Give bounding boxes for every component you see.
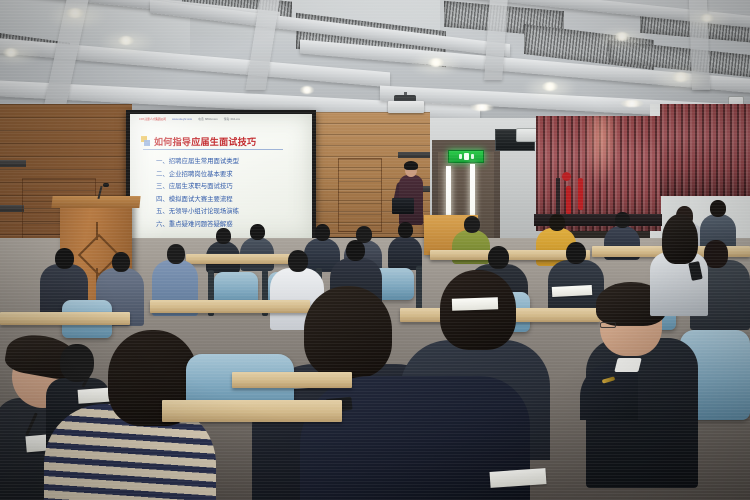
officer-collar <box>614 358 641 372</box>
curtain-highlight <box>584 116 618 186</box>
window-curtain-right <box>660 104 750 196</box>
slide-bullet-marker-icon <box>141 136 150 145</box>
lectern-top <box>51 196 140 208</box>
ceiling-downlight <box>470 104 494 111</box>
slide-header-extra: 传真: 010-xxx <box>224 119 240 122</box>
stand-pole <box>556 178 560 214</box>
wall-accent-strip <box>398 152 430 158</box>
ceiling-downlight <box>620 100 644 107</box>
slide-header-tel: 电话: 8802xxxxx <box>198 119 218 122</box>
microphone-icon <box>103 183 109 187</box>
chair-frame <box>416 266 422 310</box>
wall-speaker <box>516 128 538 142</box>
conference-room-photo: CPA注册人才集团公司 www.site-jhr.com 电话: 8802xxx… <box>0 0 750 500</box>
slide-bullet-item: 六、重点疑难问题答疑解惑 <box>156 221 304 227</box>
red-banner <box>578 178 583 210</box>
wood-door-panel <box>338 158 382 232</box>
red-decoration <box>562 172 571 181</box>
slide-bullet-item: 三、应届生求职与面试技巧 <box>156 183 304 189</box>
wall-accent-strip <box>0 205 24 212</box>
slide-header-url: www.site-jhr.com <box>172 119 192 122</box>
red-banner <box>566 186 571 214</box>
slide-header: CPA注册人才集团公司 www.site-jhr.com 电话: 8802xxx… <box>139 119 306 122</box>
slide-bullet-item: 一、招聘应届生常用面试类型 <box>156 158 304 164</box>
center-attendee-head <box>304 286 392 378</box>
projector <box>388 101 424 113</box>
slide-bullet-list: 一、招聘应届生常用面试类型 二、企业招聘岗位基本要求 三、应届生求职与面试技巧 … <box>156 158 304 233</box>
notebook <box>552 285 592 297</box>
wall-accent-strip <box>0 160 26 167</box>
desk <box>150 300 310 313</box>
notebook <box>452 297 498 311</box>
slide-header-company: CPA注册人才集团公司 <box>139 119 166 122</box>
presenter-hair <box>404 161 418 170</box>
slide-bullet-item: 五、无领导小组讨论现场演练 <box>156 208 304 214</box>
desk <box>162 400 342 422</box>
glasses-icon <box>600 322 616 328</box>
slide-title: 如何指导应届生面试技巧 <box>154 135 256 148</box>
slide-title-rule <box>143 149 283 150</box>
desk <box>0 312 130 325</box>
presenter-laptop <box>392 198 414 214</box>
exit-sign-icon <box>448 150 484 163</box>
desk <box>232 372 352 388</box>
slide-bullet-item: 四、模拟面试大赛主要流程 <box>156 196 304 202</box>
ceiling-downlight <box>300 86 314 94</box>
projection-screen: CPA注册人才集团公司 www.site-jhr.com 电话: 8802xxx… <box>130 114 312 238</box>
slide-bullet-item: 二、企业招聘岗位基本要求 <box>156 171 304 177</box>
